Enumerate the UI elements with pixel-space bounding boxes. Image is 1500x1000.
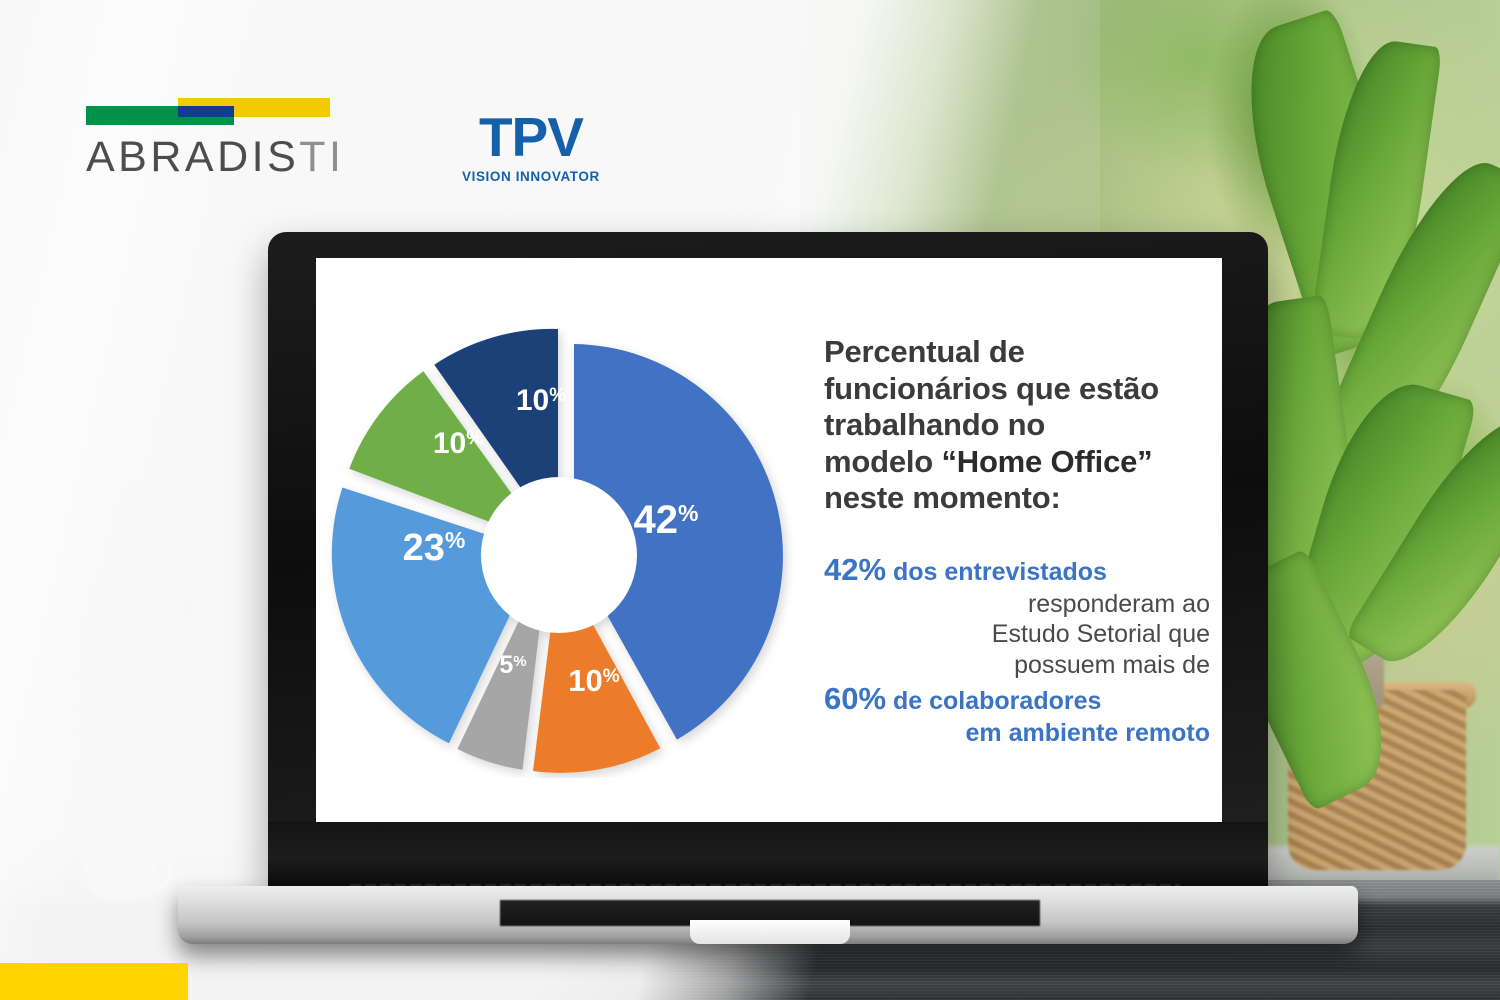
slide-text-column: Percentual de funcionários que estão tra… <box>824 334 1210 749</box>
donut-hole <box>481 477 637 633</box>
abradisti-logo: ABRADISTI <box>86 98 362 182</box>
headline-home-office: “Home Office” <box>941 444 1152 479</box>
tpv-wordmark: TPV <box>462 110 600 165</box>
callout-row-6: em ambiente remoto <box>824 718 1210 749</box>
laptop-lid-notch <box>690 920 850 944</box>
abradisti-wordmark: ABRADISTI <box>86 133 362 182</box>
poster-canvas: ABRADISTI TPV VISION INNOVATOR <box>0 0 1500 1000</box>
abradisti-wordmark-tail: TI <box>299 133 344 181</box>
headline-line-4: modelo “Home Office” <box>824 444 1210 481</box>
tpv-logo: TPV VISION INNOVATOR <box>462 110 600 184</box>
tpv-tagline: VISION INNOVATOR <box>462 169 600 184</box>
callout-row-1: 42% dos entrevistados <box>824 551 1210 589</box>
yellow-corner-accent <box>0 963 188 1000</box>
headline-line-1: Percentual de <box>824 334 1210 371</box>
abradisti-wordmark-main: ABRADIS <box>86 133 299 181</box>
callout-row-1-text: dos entrevistados <box>886 558 1107 586</box>
abradisti-flag-mark <box>86 98 330 124</box>
slide-callout: 42% dos entrevistados responderam ao Est… <box>824 551 1210 749</box>
background-plant-left <box>20 470 250 850</box>
callout-row-3: Estudo Setorial que <box>824 619 1210 650</box>
callout-row-2: responderam ao <box>824 589 1210 620</box>
callout-stat-42: 42% <box>824 552 886 587</box>
callout-row-5-text: de colaboradores <box>886 687 1101 715</box>
headline-line-2: funcionários que estão <box>824 371 1210 408</box>
donut-chart-svg: 42% 10% 5% 23% 10% 10% <box>326 328 806 778</box>
callout-stat-60: 60% <box>824 681 886 716</box>
laptop-screen: 42% 10% 5% 23% 10% 10% <box>316 258 1222 848</box>
donut-chart: 42% 10% 5% 23% 10% 10% <box>326 328 806 778</box>
callout-row-5: 60% de colaboradores <box>824 680 1210 718</box>
laptop-bottom-bezel <box>268 822 1268 892</box>
coffee-mug <box>86 838 158 900</box>
presentation-slide: 42% 10% 5% 23% 10% 10% <box>316 258 1222 848</box>
callout-row-4: possuem mais de <box>824 650 1210 681</box>
slice-label-10-navy: 10% <box>516 384 566 417</box>
headline-line-4-prefix: modelo <box>824 444 941 479</box>
headline-line-5: neste momento: <box>824 480 1210 517</box>
flag-blue-bar <box>178 106 234 117</box>
slide-headline: Percentual de funcionários que estão tra… <box>824 334 1210 517</box>
headline-line-3: trabalhando no <box>824 407 1210 444</box>
